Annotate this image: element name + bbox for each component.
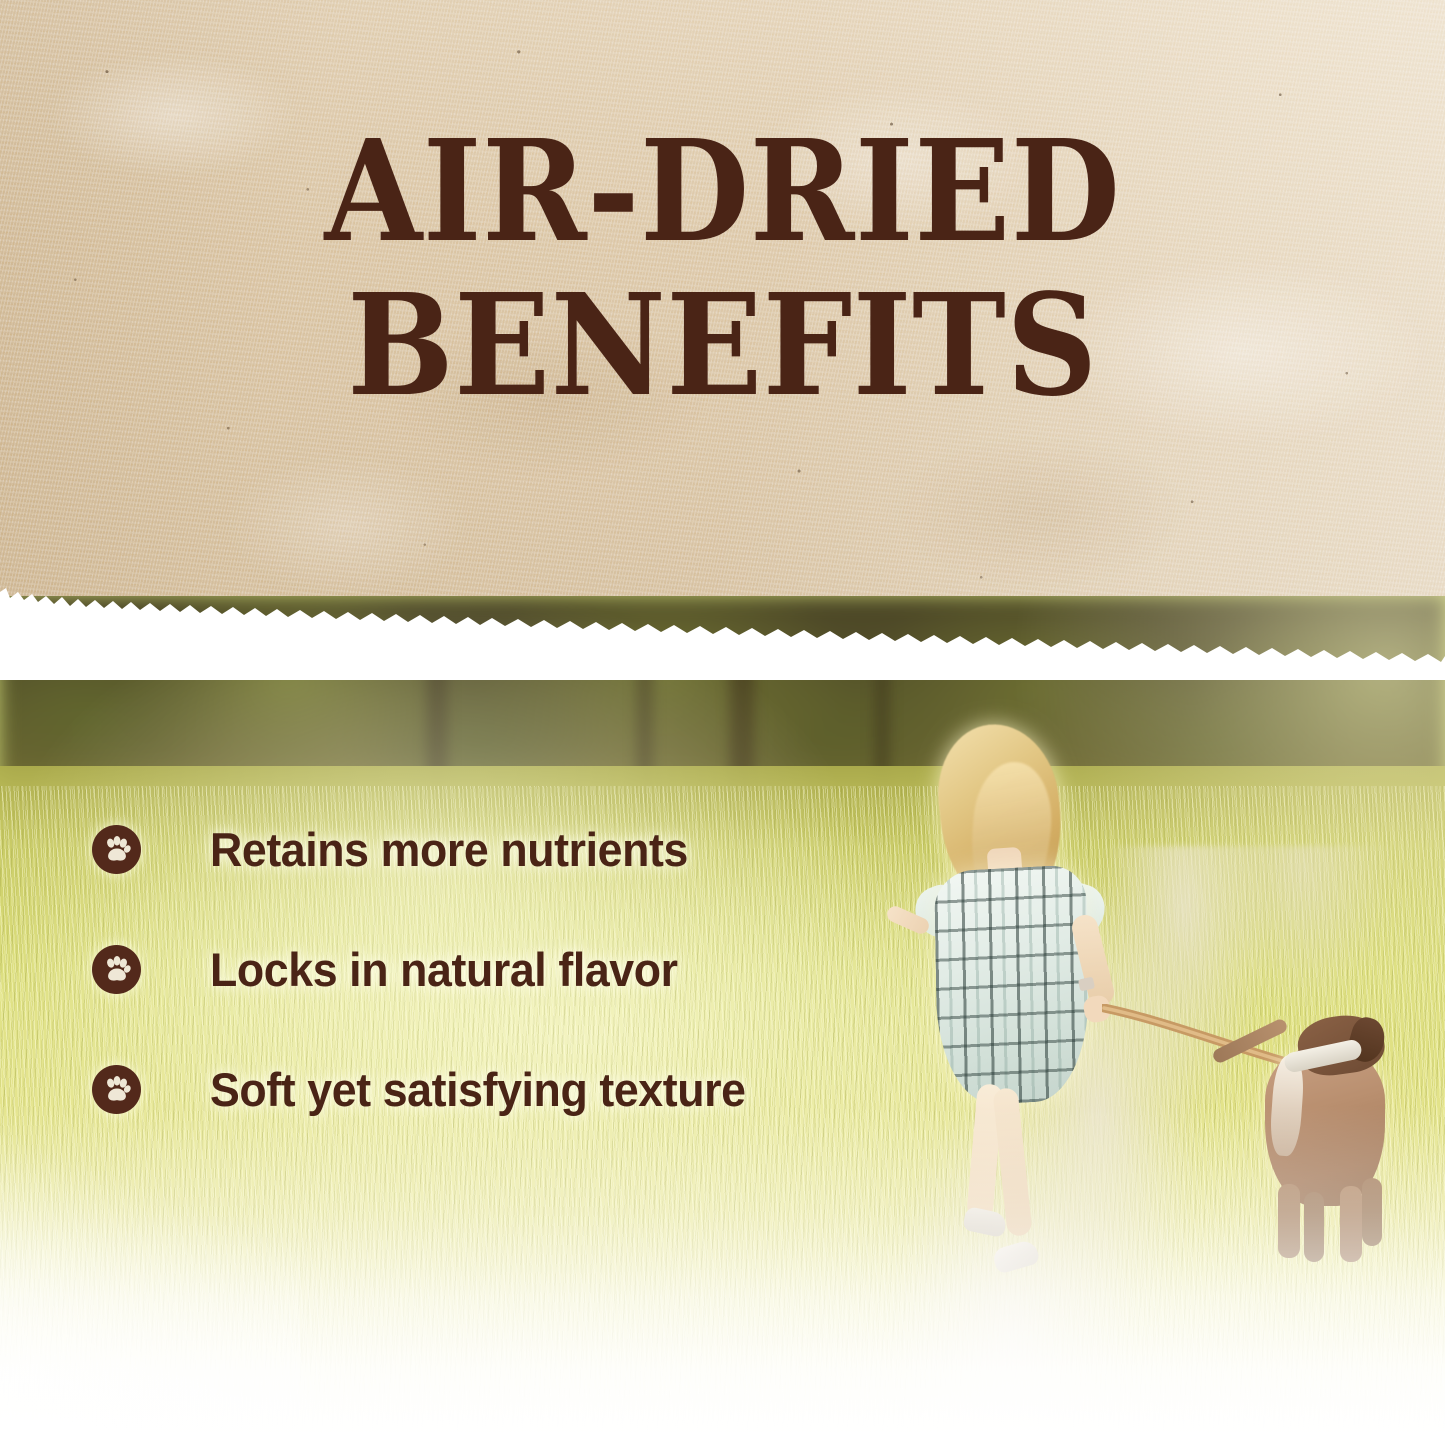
benefit-item: Locks in natural flavor xyxy=(92,938,992,1000)
dog-leg xyxy=(1340,1186,1362,1262)
page-title: AIR-DRIED BENEFITS xyxy=(0,127,1445,412)
benefit-item: Retains more nutrients xyxy=(92,818,992,880)
benefits-list: Retains more nutrients Locks in natural … xyxy=(92,818,992,1178)
paw-icon xyxy=(92,825,141,874)
dog-leg xyxy=(1278,1184,1300,1258)
benefit-label: Retains more nutrients xyxy=(210,826,688,873)
dog-leg xyxy=(1304,1192,1324,1262)
marketing-infographic: AIR-DRIED BENEFITS xyxy=(0,0,1445,1436)
benefit-label: Locks in natural flavor xyxy=(210,946,678,993)
woman-shoe-right xyxy=(991,1238,1040,1274)
dog-leg xyxy=(1362,1178,1382,1246)
page-title-line-1: AIR-DRIED xyxy=(72,127,1373,259)
paw-icon xyxy=(92,1065,141,1114)
paw-icon xyxy=(92,945,141,994)
page-title-line-2: BENEFITS xyxy=(72,281,1373,413)
benefit-item: Soft yet satisfying texture xyxy=(92,1058,992,1120)
woman-shoe-left xyxy=(962,1206,1008,1238)
benefit-label: Soft yet satisfying texture xyxy=(210,1066,746,1113)
